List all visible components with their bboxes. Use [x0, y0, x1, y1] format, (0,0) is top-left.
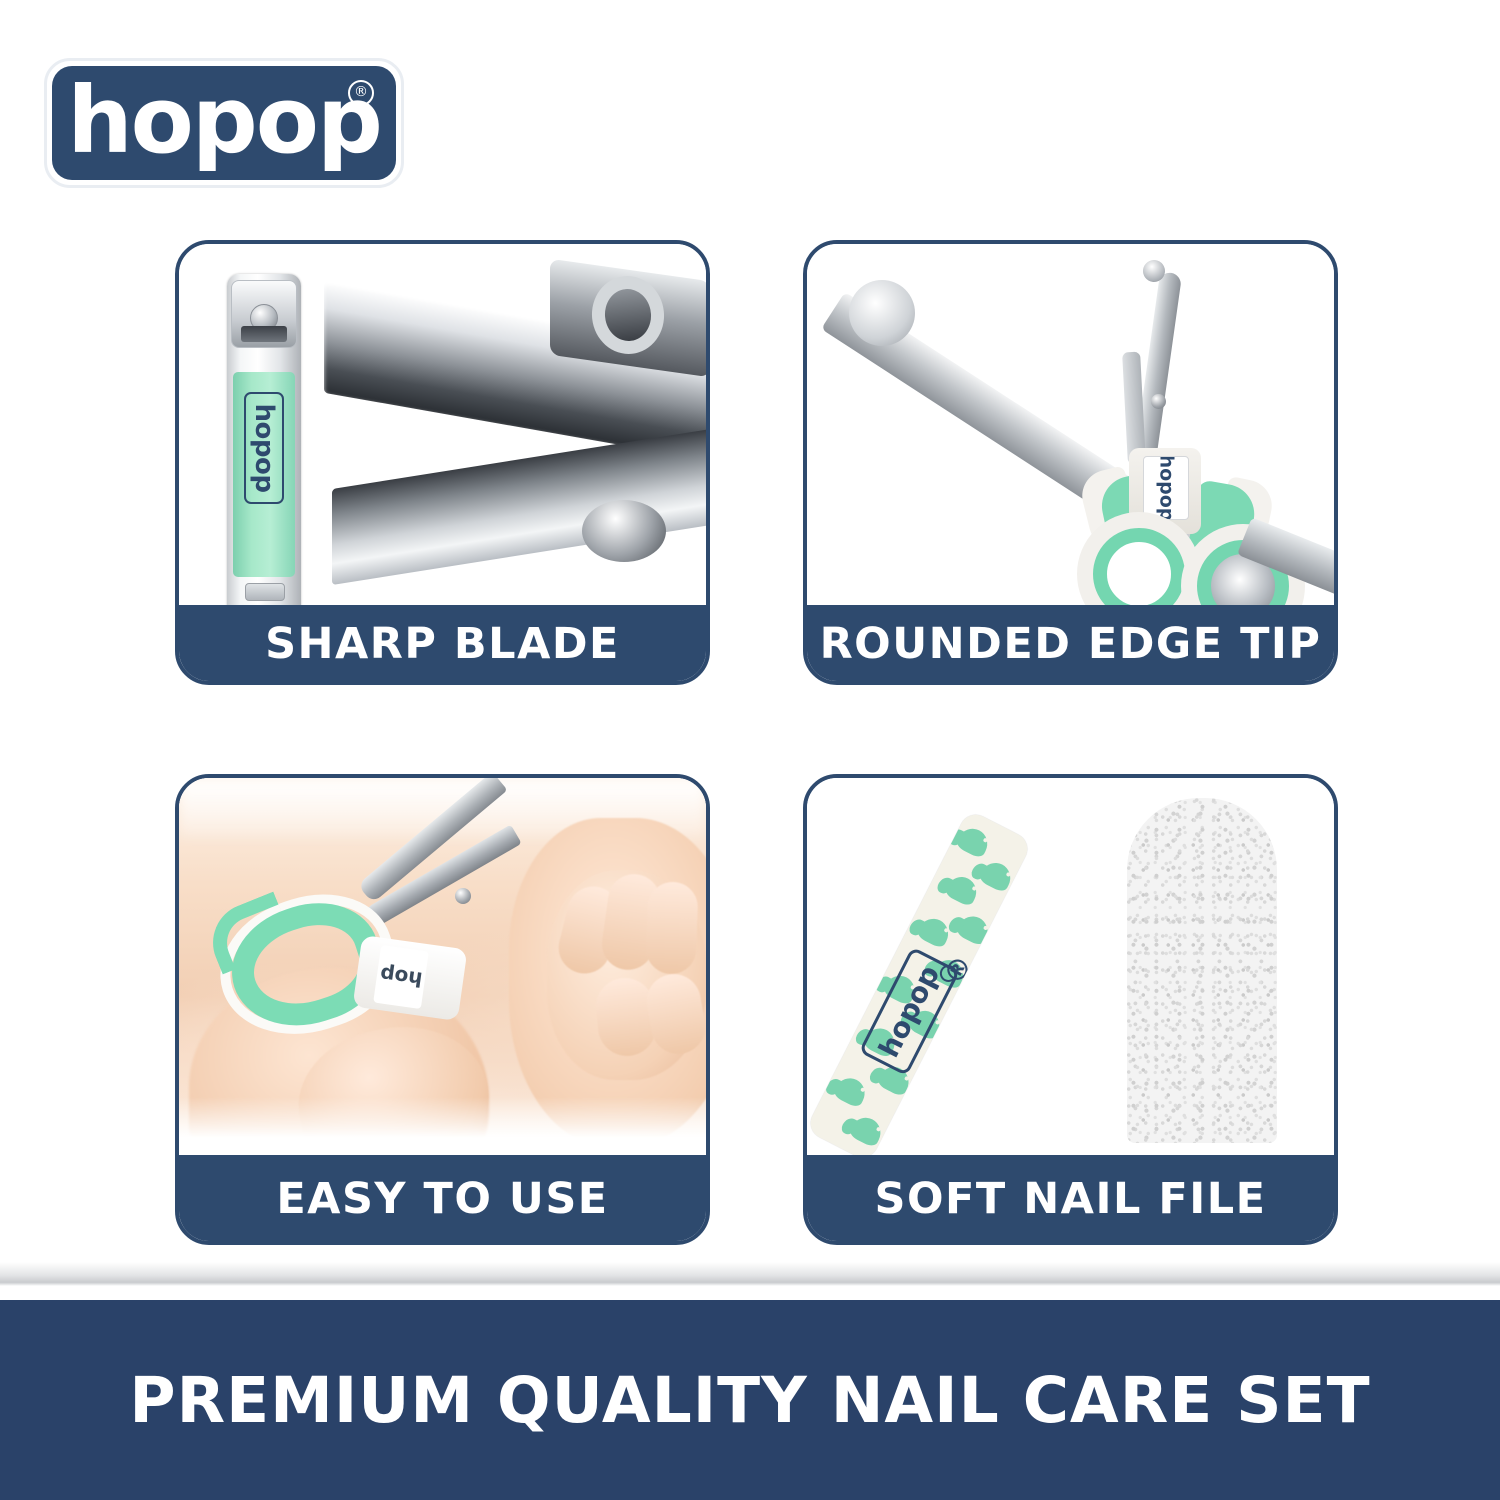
clipper-brand-text: hopop [251, 404, 277, 493]
feature-footer-sharp-blade: SHARP BLADE [178, 605, 707, 682]
banner-headline: PREMIUM QUALITY NAIL CARE SET [129, 1364, 1370, 1437]
clipper-pin-base [241, 326, 287, 342]
clipper-file-tab [245, 583, 285, 601]
feature-card-rounded-edge-tip: hopop ROUNDED EDGE TIP [803, 240, 1338, 685]
feature-card-easy-to-use: hop EASY TO USE [175, 774, 710, 1245]
clipper-macro-image: hopop [179, 244, 706, 605]
nail-file-product: hopop ® [807, 809, 1033, 1155]
feature-label: ROUNDED EDGE TIP [820, 619, 1322, 669]
nail-file-image: hopop ® [807, 778, 1334, 1155]
section-divider [0, 1262, 1500, 1286]
elephant-icon [915, 914, 953, 950]
scissors-brand-label: hopop [1143, 456, 1189, 520]
feature-label: SOFT NAIL FILE [875, 1174, 1267, 1224]
feature-footer-soft-nail-file: SOFT NAIL FILE [806, 1155, 1335, 1242]
clipper-closeup [324, 262, 706, 602]
elephant-icon [977, 858, 1015, 894]
photo-scissors-brand-label: hop [373, 945, 429, 1009]
elephant-icon [955, 911, 993, 947]
feature-grid: hopop SHARP BLADE [175, 240, 1338, 1245]
clipper-mint-grip: hopop [233, 372, 295, 577]
scissors-image: hopop [807, 244, 1334, 605]
feature-label: EASY TO USE [276, 1174, 608, 1224]
baby-finger [645, 881, 698, 975]
photo-background: hop [179, 778, 706, 1155]
clipper-rivet [582, 500, 666, 562]
feature-card-soft-nail-file: hopop ® SOFT NAIL FILE [803, 774, 1338, 1245]
nail-file-brand-label: hopop ® [859, 947, 961, 1077]
feature-card-sharp-blade: hopop SHARP BLADE [175, 240, 710, 685]
clipper-brand-label: hopop [244, 392, 284, 504]
elephant-icon [955, 824, 993, 860]
logo-plate: hopop ® [52, 66, 396, 180]
nail-clipper-product: hopop [227, 274, 301, 605]
bottom-banner: PREMIUM QUALITY NAIL CARE SET [0, 1300, 1500, 1500]
feature-footer-easy-to-use: EASY TO USE [178, 1155, 707, 1242]
rounded-tip-icon [849, 280, 915, 346]
photo-scissors-screw [455, 888, 471, 904]
photo-scissors-brand-text: hop [378, 962, 423, 992]
feature-label: SHARP BLADE [265, 619, 620, 669]
emery-surface [1127, 798, 1277, 1143]
elephant-icon [848, 1113, 886, 1149]
elephant-icon [832, 1073, 870, 1109]
photo-fade-bottom [179, 1097, 706, 1155]
registered-trademark-icon: ® [348, 80, 374, 106]
scissors-pivot-screw [1151, 394, 1166, 409]
scissors-brand-text: hopop [1155, 456, 1177, 520]
lifestyle-photo: hop [179, 778, 706, 1155]
baby-scissors-product: hopop [807, 244, 1334, 605]
logo-wordmark: hopop [52, 75, 396, 167]
feature-footer-rounded-edge-tip: ROUNDED EDGE TIP [806, 605, 1335, 682]
brand-logo: hopop ® [44, 58, 404, 188]
